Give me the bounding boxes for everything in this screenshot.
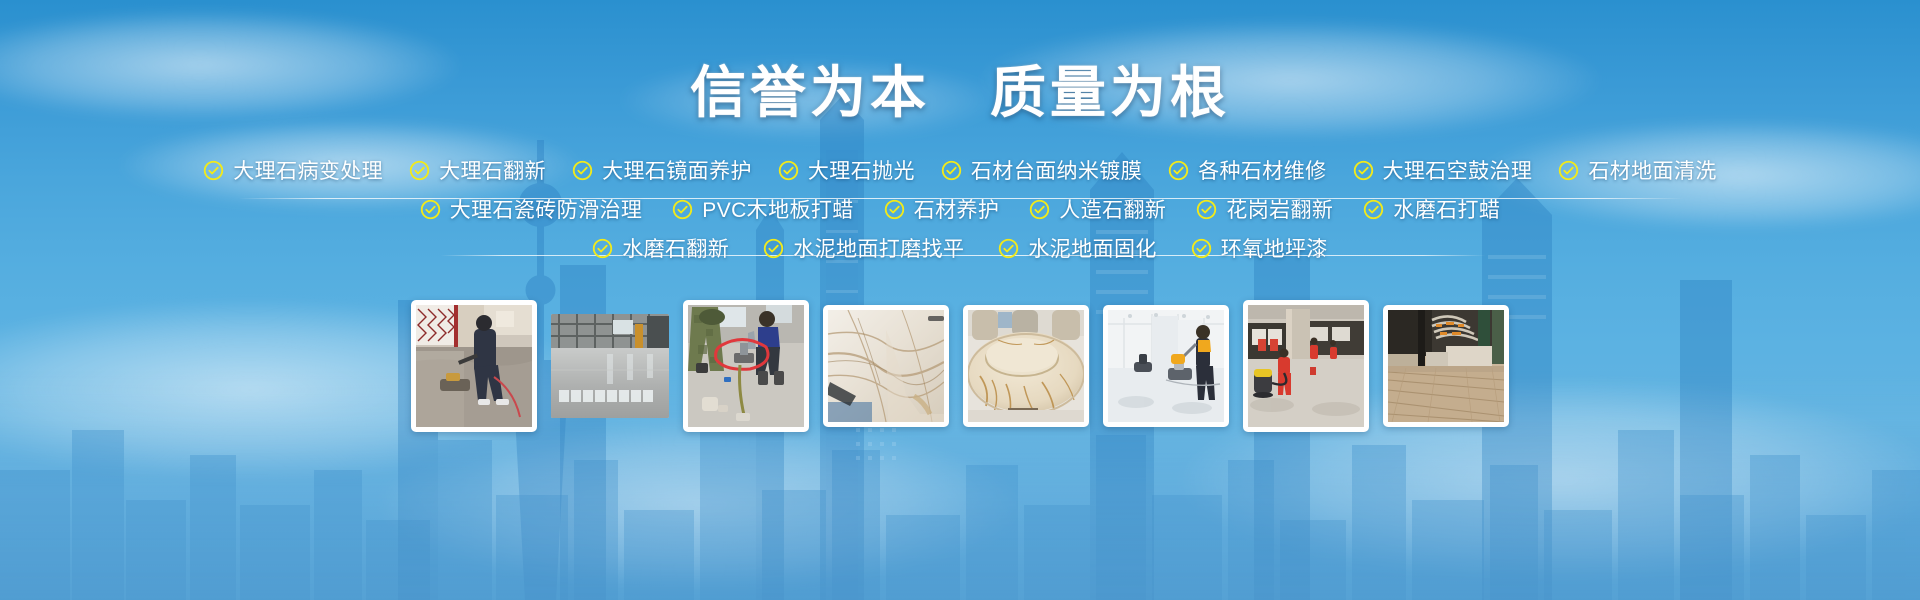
service-tag[interactable]: 人造石翻新 (1029, 194, 1166, 224)
service-label: 石材台面纳米镀膜 (971, 155, 1142, 185)
service-label: 大理石翻新 (439, 155, 546, 185)
promo-banner: 信誉为本 质量为根 大理石病变处理 大理石翻新 大理石镜面养护 大理石抛光 (0, 0, 1920, 600)
service-tag[interactable]: 石材地面清洗 (1558, 155, 1716, 185)
photo-crack-injection-workers[interactable] (683, 300, 809, 432)
service-tag[interactable]: 环氧地坪漆 (1191, 233, 1328, 263)
service-tag[interactable]: PVC木地板打蜡 (672, 194, 853, 224)
service-label: 大理石抛光 (808, 155, 915, 185)
check-circle-icon (1191, 238, 1212, 259)
service-tag[interactable]: 水泥地面固化 (998, 233, 1156, 263)
check-circle-icon (763, 238, 784, 259)
check-circle-icon (1353, 160, 1374, 181)
check-circle-icon (1168, 160, 1189, 181)
service-list: 大理石病变处理 大理石翻新 大理石镜面养护 大理石抛光 石材台面纳米镀膜 各种石… (0, 155, 1920, 272)
photo-thumbnail-image (551, 314, 669, 418)
service-label: 大理石病变处理 (233, 155, 383, 185)
service-tag[interactable]: 大理石翻新 (409, 155, 546, 185)
service-row-2: 大理石瓷砖防滑治理 PVC木地板打蜡 石材养护 人造石翻新 花岗岩翻新 水磨石打… (0, 194, 1920, 224)
service-label: 大理石空鼓治理 (1383, 155, 1533, 185)
photo-thumbnail-image (1388, 310, 1504, 422)
service-label: 石材养护 (914, 194, 1000, 224)
service-tag[interactable]: 大理石瓷砖防滑治理 (420, 194, 643, 224)
service-label: 各种石材维修 (1198, 155, 1326, 185)
service-label: PVC木地板打蜡 (702, 194, 853, 224)
check-circle-icon (1196, 199, 1217, 220)
service-tag[interactable]: 水磨石翻新 (592, 233, 729, 263)
photo-polished-concrete-warehouse[interactable] (551, 314, 669, 418)
check-circle-icon (420, 199, 441, 220)
service-row-1: 大理石病变处理 大理石翻新 大理石镜面养护 大理石抛光 石材台面纳米镀膜 各种石… (0, 155, 1920, 185)
photo-thumbnail-image (416, 305, 532, 427)
check-circle-icon (998, 238, 1019, 259)
service-label: 水磨石翻新 (622, 233, 729, 263)
photo-gallery (0, 300, 1920, 432)
photo-wood-floor-corridor[interactable] (1383, 305, 1509, 427)
photo-terrazzo-floor-grinding[interactable] (411, 300, 537, 432)
check-circle-icon (1363, 199, 1384, 220)
photo-thumbnail-image (1108, 310, 1224, 422)
check-circle-icon (884, 199, 905, 220)
check-circle-icon (941, 160, 962, 181)
service-tag[interactable]: 大理石镜面养护 (572, 155, 752, 185)
check-circle-icon (409, 160, 430, 181)
photo-thumbnail-image (1248, 305, 1364, 427)
service-row-3: 水磨石翻新 水泥地面打磨找平 水泥地面固化 环氧地坪漆 (0, 233, 1920, 263)
service-label: 人造石翻新 (1059, 194, 1166, 224)
check-circle-icon (203, 160, 224, 181)
service-tag[interactable]: 石材养护 (884, 194, 1000, 224)
check-circle-icon (1558, 160, 1579, 181)
check-circle-icon (572, 160, 593, 181)
photo-marble-slab-veining[interactable] (823, 305, 949, 427)
check-circle-icon (672, 199, 693, 220)
service-label: 花岗岩翻新 (1226, 194, 1333, 224)
service-tag[interactable]: 大理石空鼓治理 (1353, 155, 1533, 185)
service-tag[interactable]: 大理石抛光 (778, 155, 915, 185)
check-circle-icon (1029, 199, 1050, 220)
check-circle-icon (592, 238, 613, 259)
title-container: 信誉为本 质量为根 (0, 48, 1920, 129)
service-tag[interactable]: 水磨石打蜡 (1363, 194, 1500, 224)
photo-marble-round-table[interactable] (963, 305, 1089, 427)
photo-lobby-floor-polishing[interactable] (1103, 305, 1229, 427)
service-label: 水泥地面打磨找平 (793, 233, 964, 263)
service-tag[interactable]: 水泥地面打磨找平 (763, 233, 964, 263)
service-label: 水磨石打蜡 (1393, 194, 1500, 224)
service-tag[interactable]: 大理石病变处理 (203, 155, 383, 185)
photo-mall-cleaning-crew[interactable] (1243, 300, 1369, 432)
service-label: 水泥地面固化 (1028, 233, 1156, 263)
service-label: 石材地面清洗 (1588, 155, 1716, 185)
check-circle-icon (778, 160, 799, 181)
service-tag[interactable]: 石材台面纳米镀膜 (941, 155, 1142, 185)
service-label: 大理石镜面养护 (602, 155, 752, 185)
photo-thumbnail-image (968, 310, 1084, 422)
photo-thumbnail-image (688, 305, 804, 427)
service-label: 大理石瓷砖防滑治理 (450, 194, 643, 224)
photo-thumbnail-image (828, 310, 944, 422)
service-tag[interactable]: 各种石材维修 (1168, 155, 1326, 185)
page-title: 信誉为本 质量为根 (690, 48, 1230, 129)
service-label: 环氧地坪漆 (1221, 233, 1328, 263)
service-tag[interactable]: 花岗岩翻新 (1196, 194, 1333, 224)
